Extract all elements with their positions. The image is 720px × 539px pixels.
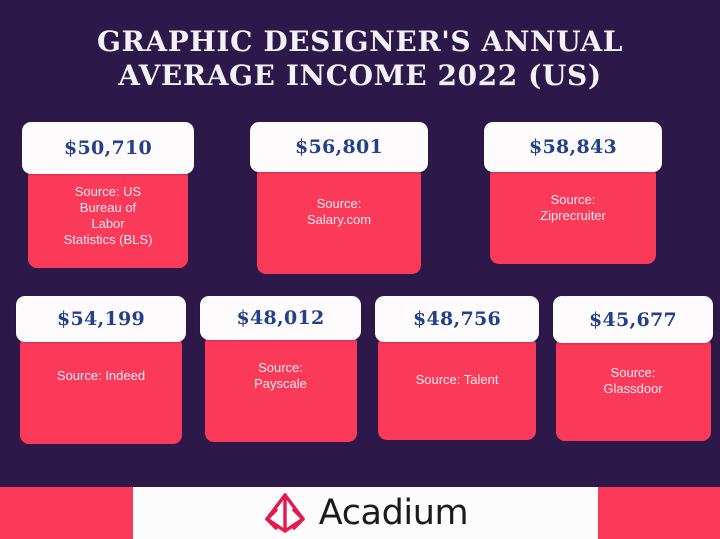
stat-card-value-header: $50,710 bbox=[22, 122, 194, 174]
stat-card: $58,843 Source: Ziprecruiter bbox=[484, 122, 662, 264]
footer-accent-left bbox=[0, 487, 133, 539]
stat-card-value: $54,199 bbox=[57, 308, 145, 330]
stat-card-value: $45,677 bbox=[589, 309, 677, 331]
stat-card-value-header: $56,801 bbox=[250, 122, 428, 172]
infographic-root: GRAPHIC DESIGNER'S ANNUAL AVERAGE INCOME… bbox=[0, 0, 720, 539]
stat-card-source: Source: Payscale bbox=[254, 360, 307, 442]
stat-card-source: Source: Glassdoor bbox=[603, 365, 662, 441]
stat-card: $45,677 Source: Glassdoor bbox=[553, 296, 713, 441]
page-title-line-2: AVERAGE INCOME 2022 (US) bbox=[40, 59, 680, 93]
footer-accent-right bbox=[598, 487, 720, 539]
stat-card-value-header: $54,199 bbox=[16, 296, 186, 342]
stat-card-value-header: $48,756 bbox=[375, 296, 539, 342]
brand-wordmark: Acadium bbox=[319, 496, 468, 531]
stat-card-body: Source: Salary.com bbox=[257, 166, 421, 274]
stat-card-row-top: $50,710 Source: US Bureau of Labor Stati… bbox=[22, 122, 698, 274]
stat-card: $54,199 Source: Indeed bbox=[16, 296, 186, 444]
stat-card-value: $48,012 bbox=[236, 307, 324, 329]
stat-card: $48,756 Source: Talent bbox=[375, 296, 539, 440]
stat-card-source: Source: Talent bbox=[416, 372, 499, 440]
stat-card-body: Source: Talent bbox=[378, 336, 536, 440]
footer-bar: Acadium bbox=[0, 487, 720, 539]
brand-lockup: Acadium bbox=[133, 487, 598, 539]
stat-card-source: Source: Ziprecruiter bbox=[540, 192, 606, 264]
stat-card-value: $48,756 bbox=[413, 308, 501, 330]
stat-card-body: Source: Payscale bbox=[205, 334, 357, 442]
stat-card-value-header: $45,677 bbox=[553, 296, 713, 343]
acadium-diamond-logo-icon bbox=[263, 493, 307, 533]
stat-card-value: $58,843 bbox=[529, 136, 617, 158]
stat-card-source: Source: Salary.com bbox=[307, 196, 371, 274]
stat-card-body: Source: US Bureau of Labor Statistics (B… bbox=[28, 168, 188, 268]
stat-card-value: $50,710 bbox=[64, 137, 152, 159]
stat-card-value: $56,801 bbox=[295, 136, 383, 158]
stat-card: $50,710 Source: US Bureau of Labor Stati… bbox=[22, 122, 194, 268]
stat-card-body: Source: Indeed bbox=[20, 336, 182, 444]
stat-card-source: Source: Indeed bbox=[57, 368, 145, 444]
stat-card-source: Source: US Bureau of Labor Statistics (B… bbox=[64, 184, 153, 268]
stat-card-value-header: $58,843 bbox=[484, 122, 662, 172]
stat-card-body: Source: Ziprecruiter bbox=[490, 166, 656, 264]
stat-card: $56,801 Source: Salary.com bbox=[250, 122, 428, 274]
page-title: GRAPHIC DESIGNER'S ANNUAL AVERAGE INCOME… bbox=[0, 25, 720, 93]
stat-card-body: Source: Glassdoor bbox=[556, 337, 711, 441]
stat-card: $48,012 Source: Payscale bbox=[200, 296, 361, 442]
stat-card-row-bottom: $54,199 Source: Indeed $48,012 Source: P… bbox=[16, 296, 704, 444]
page-title-line-1: GRAPHIC DESIGNER'S ANNUAL bbox=[40, 25, 680, 59]
stat-card-value-header: $48,012 bbox=[200, 296, 361, 340]
